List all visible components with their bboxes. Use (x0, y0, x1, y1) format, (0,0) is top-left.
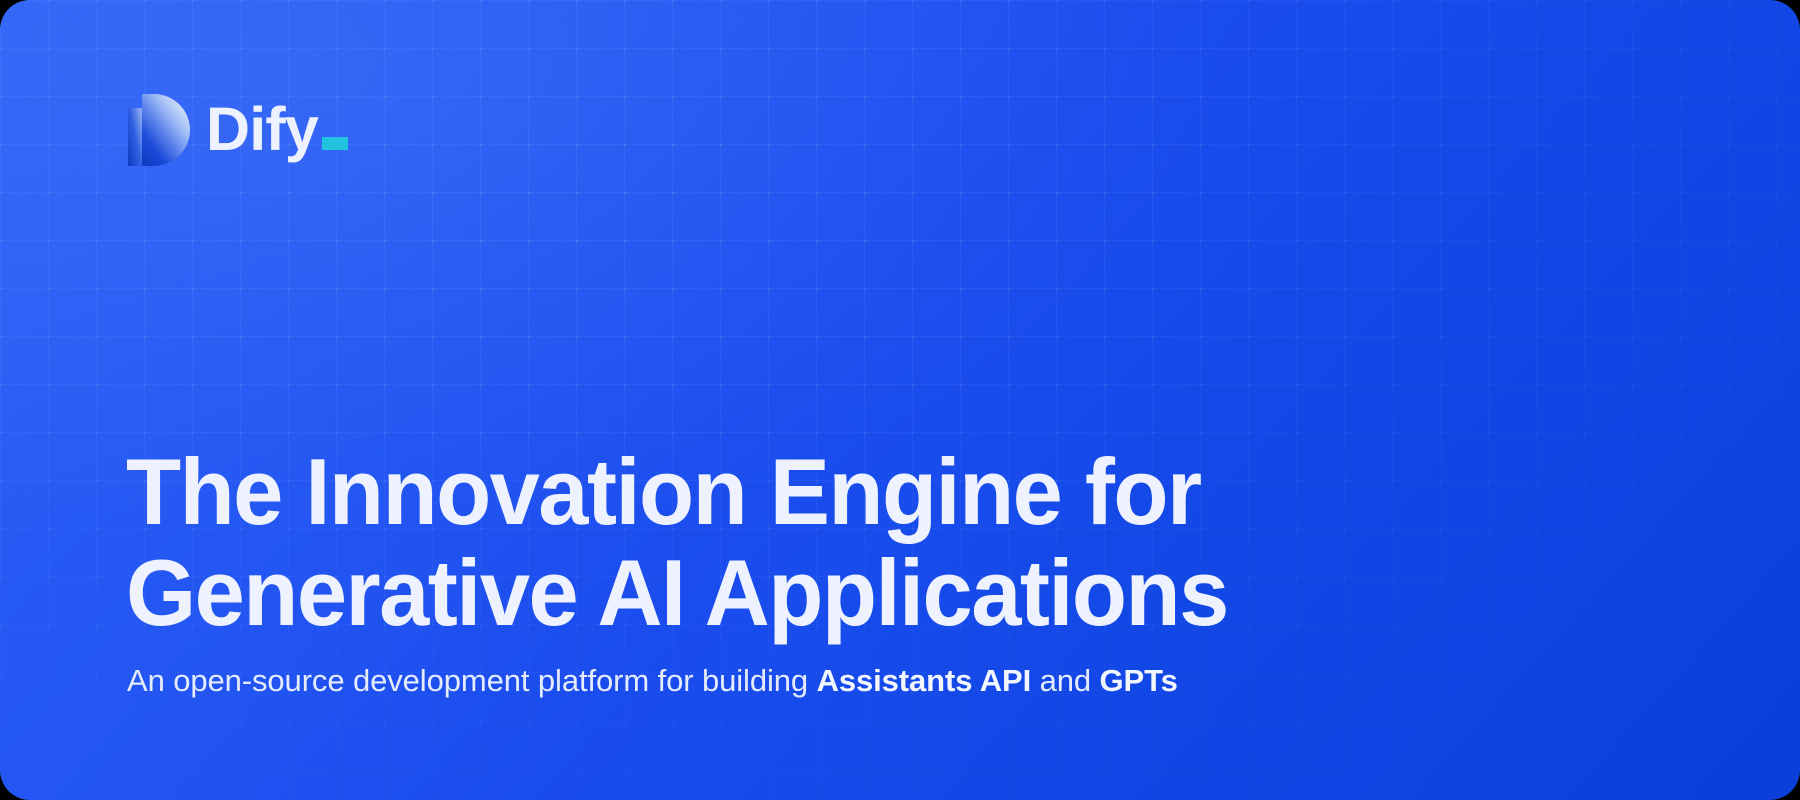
subtitle-prefix: An open-source development platform for … (127, 663, 817, 698)
headline-line-1: The Innovation Engine for (126, 441, 1355, 543)
logo-accent-dash-icon (322, 137, 348, 150)
brand-logo[interactable]: Dify (128, 94, 348, 166)
subtitle-middle: and (1031, 663, 1099, 698)
subtitle-bold-gpts: GPTs (1100, 663, 1178, 698)
logo-text: Dify (206, 100, 318, 160)
dify-d-mark-icon (128, 94, 190, 166)
hero-subtitle: An open-source development platform for … (127, 663, 1178, 699)
subtitle-bold-assistants-api: Assistants API (817, 663, 1032, 698)
hero-headline: The Innovation Engine for Generative AI … (126, 441, 1355, 644)
headline-line-2: Generative AI Applications (126, 542, 1355, 644)
logo-wordmark: Dify (206, 100, 348, 160)
hero-banner: Dify The Innovation Engine for Generativ… (0, 0, 1800, 800)
